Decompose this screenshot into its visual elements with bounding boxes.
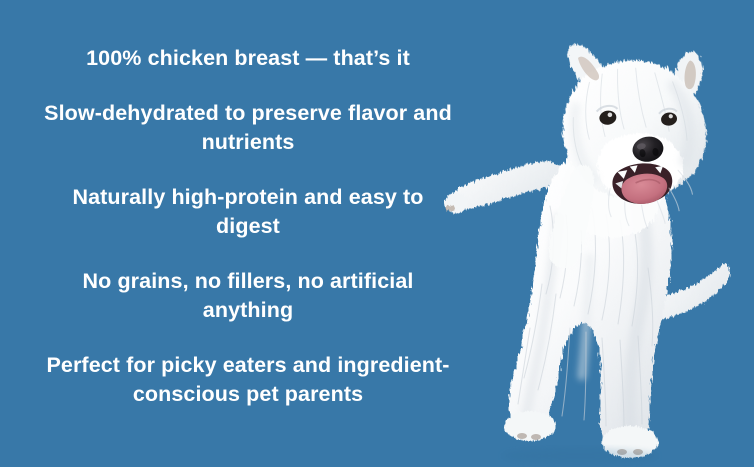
dog-tongue xyxy=(619,170,669,208)
dog-fur-strands xyxy=(518,202,653,428)
dog-left-ear-inner xyxy=(578,54,600,83)
dog-nose xyxy=(631,134,666,164)
dog-photo xyxy=(430,28,754,467)
dog-left-ear xyxy=(566,40,607,91)
dog-front-leg-extended xyxy=(444,161,563,213)
dog-paw-pads xyxy=(517,433,643,455)
dog-right-ear-inner xyxy=(681,60,699,90)
benefit-item-4: No grains, no fillers, no artificial any… xyxy=(38,267,458,325)
promo-banner: 100% chicken breast — that’s it Slow-deh… xyxy=(0,0,754,467)
benefit-item-5: Perfect for picky eaters and ingredient-… xyxy=(38,351,458,409)
dog-tail xyxy=(636,264,730,321)
dog-mouth xyxy=(610,158,676,209)
dog-head-fur xyxy=(564,59,690,171)
dog-chest-ruff xyxy=(562,153,661,238)
benefit-list: 100% chicken breast — that’s it Slow-deh… xyxy=(38,44,458,409)
dog-head xyxy=(547,28,728,240)
benefit-item-2: Slow-dehydrated to preserve flavor and n… xyxy=(38,99,458,157)
benefit-item-1: 100% chicken breast — that’s it xyxy=(38,44,458,73)
dog-front-leg-bent xyxy=(549,165,594,268)
dog-hind-paws xyxy=(504,411,658,458)
dog-right-ear xyxy=(668,50,707,101)
benefit-item-3: Naturally high-protein and easy to diges… xyxy=(38,183,458,241)
dog-eyes xyxy=(596,94,679,137)
dog-beard-fur xyxy=(604,169,697,235)
dog-body-shading xyxy=(526,188,646,426)
dog-body xyxy=(509,147,672,448)
dog-shadow xyxy=(502,448,658,464)
